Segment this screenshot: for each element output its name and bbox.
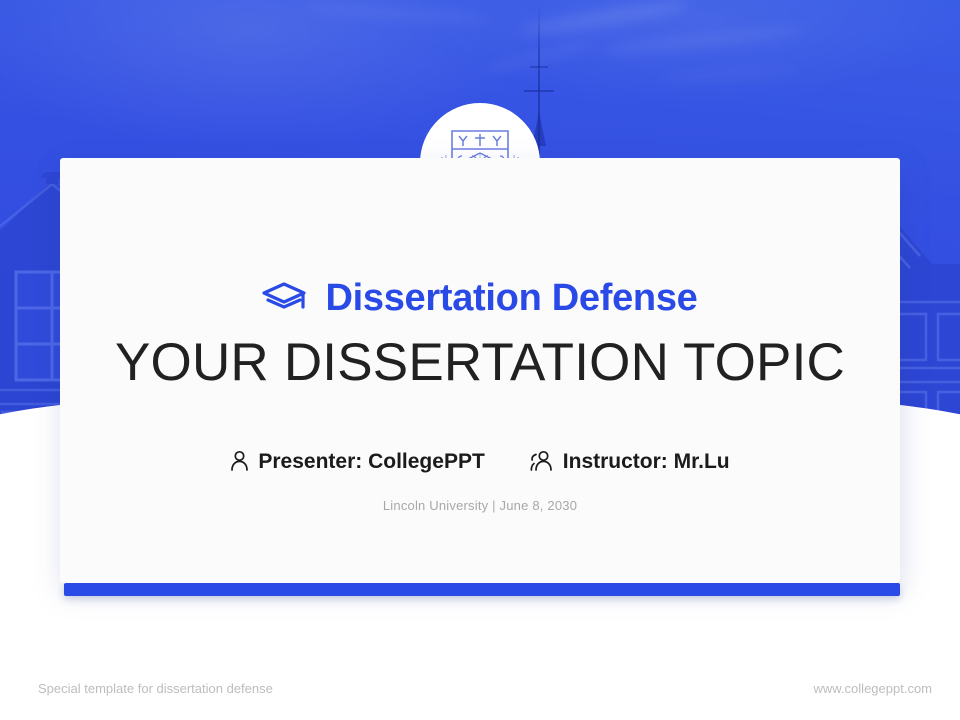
instructor-label: Instructor: Mr.Lu [563, 451, 730, 472]
spire-crossbar-icon [530, 66, 548, 68]
people-row: Presenter: CollegePPT Instructor: Mr.Lu [60, 450, 900, 472]
persons-icon [529, 450, 554, 472]
title-card: Dissertation Defense YOUR DISSERTATION T… [60, 158, 900, 583]
meta-line: Lincoln University | June 8, 2030 [60, 498, 900, 513]
eyebrow-row: Dissertation Defense [60, 279, 900, 317]
footer-left-text: Special template for dissertation defens… [38, 681, 273, 696]
presenter-item: Presenter: CollegePPT [230, 450, 484, 472]
instructor-item: Instructor: Mr.Lu [529, 450, 730, 472]
spire-crossbar-icon [524, 90, 554, 92]
person-icon [230, 450, 249, 472]
page-title: YOUR DISSERTATION TOPIC [60, 336, 900, 389]
presentation-slide: Dissertation Defense YOUR DISSERTATION T… [0, 0, 960, 720]
footer-right-text: www.collegeppt.com [814, 681, 933, 696]
graduation-cap-icon [262, 281, 308, 315]
presenter-label: Presenter: CollegePPT [258, 451, 484, 472]
accent-bar [64, 583, 900, 596]
eyebrow-text: Dissertation Defense [325, 279, 697, 317]
